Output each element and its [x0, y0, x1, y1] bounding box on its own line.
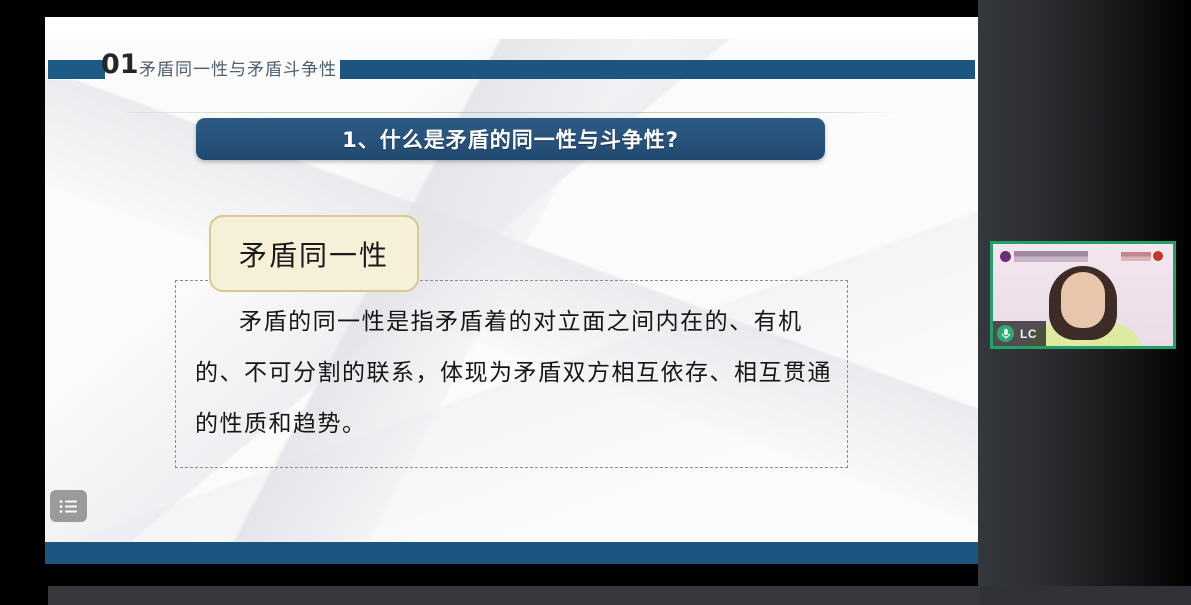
- section-title: 矛盾同一性与矛盾斗争性: [139, 55, 337, 80]
- taskbar-strip: [48, 586, 1191, 605]
- concept-chip: 矛盾同一性: [209, 215, 419, 292]
- shared-slide[interactable]: 01 矛盾同一性与矛盾斗争性 1、什么是矛盾的同一性与斗争性? 矛盾同一性 矛盾…: [45, 17, 978, 564]
- slide-section-header: 01 矛盾同一性与矛盾斗争性: [45, 52, 978, 88]
- backdrop-right-caption: [1121, 252, 1151, 261]
- header-divider-rule: [125, 112, 900, 113]
- slide-title-banner: 1、什么是矛盾的同一性与斗争性?: [196, 118, 825, 160]
- list-outline-icon: [59, 499, 78, 514]
- screen-share-stage: 01 矛盾同一性与矛盾斗争性 1、什么是矛盾的同一性与斗争性? 矛盾同一性 矛盾…: [0, 0, 1191, 605]
- section-number: 01: [101, 49, 139, 80]
- university-logo-icon: [1000, 251, 1011, 262]
- slide-footer-band: [45, 542, 978, 564]
- backdrop-left-caption: [1014, 251, 1088, 262]
- taskbar-strip-inner: [48, 586, 980, 605]
- participant-name: LC: [1020, 327, 1037, 341]
- definition-text: 矛盾的同一性是指矛盾着的对立面之间内在的、有机的、不可分割的联系，体现为矛盾双方…: [195, 297, 835, 450]
- presenter-face: [1061, 272, 1105, 328]
- slide-top-margin: [45, 17, 978, 39]
- slide-title-text: 1、什么是矛盾的同一性与斗争性?: [342, 124, 679, 154]
- slide-outline-button[interactable]: [50, 490, 87, 522]
- section-bar-right: [340, 60, 975, 79]
- participant-badge: LC: [993, 321, 1046, 346]
- secondary-logo-icon: [1153, 251, 1163, 261]
- participant-video-tile[interactable]: LC: [990, 241, 1176, 349]
- concept-chip-text: 矛盾同一性: [239, 234, 389, 274]
- section-bar-left: [48, 60, 105, 79]
- microphone-icon[interactable]: [997, 325, 1014, 342]
